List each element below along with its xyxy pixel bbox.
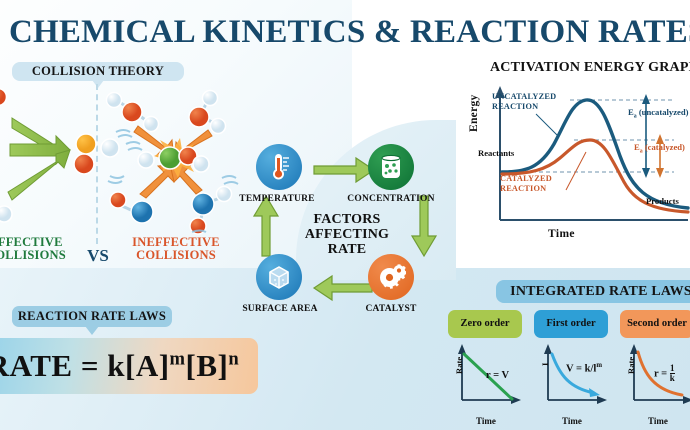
factor-node-catalyst[interactable] <box>368 254 414 300</box>
catalyzed-reaction-label: CATALYZED REACTION <box>500 174 552 193</box>
formula-sup-m: m <box>170 349 186 370</box>
ea-uncat-text: (uncatalyzed) <box>639 107 689 117</box>
zero-order-equation: r = V <box>486 370 509 381</box>
gears-icon <box>376 263 406 291</box>
reaction-rate-laws-heading: REACTION RATE LAWS <box>12 306 172 327</box>
factor-node-surface-area[interactable] <box>256 254 302 300</box>
integrated-rate-laws-heading: INTEGRATED RATE LAWS <box>496 280 690 303</box>
zero-order-title: Zero order <box>448 310 522 338</box>
rate-law-formula: RATE = k[A]m[B]n <box>0 348 239 384</box>
infographic-canvas: CHEMICAL KINETICS & REACTION RATES COLLI… <box>0 0 690 430</box>
ea-sub-1: a <box>634 114 637 120</box>
integrated-card-second-order[interactable]: Second order Rate Time r = 1k <box>620 310 690 338</box>
second-order-ylabel: Rate <box>626 357 636 374</box>
effective-line2: COLLISIONS <box>0 248 66 262</box>
page-title: CHEMICAL KINETICS & REACTION RATES <box>9 14 689 51</box>
factor-label-surface-area: SURFACE AREA <box>238 304 322 314</box>
first-order-plot <box>534 342 608 414</box>
integrated-rate-laws-group: Zero order Rate Time r = V First order <box>448 310 690 430</box>
rate-law-formula-box: RATE = k[A]m[B]n <box>0 338 258 394</box>
activation-energy-chart: Energy Time UNCATALYZED REACTION CATALYZ… <box>474 78 690 248</box>
first-order-xlabel: Time <box>562 416 582 426</box>
ea-cat-text: (catalyzed) <box>645 142 685 152</box>
catalyzed-line1: CATALYZED <box>500 174 552 183</box>
versus-label: VS <box>80 246 116 266</box>
zero-order-xlabel: Time <box>476 416 496 426</box>
first-order-ylabel: I <box>540 363 550 366</box>
uncatalyzed-reaction-label: UNCATALYZED REACTION <box>492 92 556 111</box>
factors-affecting-rate-cycle: TEMPERATURE CONCENTRATION CATALYST SURFA… <box>232 144 462 334</box>
cycle-center-label: FACTORS AFFECTING RATE <box>280 212 414 257</box>
catalyzed-line2: REACTION <box>500 184 546 193</box>
reactants-label: Reactants <box>478 148 514 158</box>
uncatalyzed-line1: UNCATALYZED <box>492 92 556 101</box>
formula-lhs: RATE = k[A] <box>0 348 170 383</box>
first-order-title: First order <box>534 310 608 338</box>
second-order-line1: Second <box>627 318 659 330</box>
activation-x-axis-label: Time <box>548 228 575 240</box>
second-order-title: Second order <box>620 310 690 338</box>
second-order-xlabel: Time <box>648 416 668 426</box>
ineffective-line1: INEFFECTIVE <box>132 235 220 249</box>
cube-icon <box>265 263 293 291</box>
integrated-card-zero-order[interactable]: Zero order Rate Time r = V <box>448 310 522 338</box>
factor-label-temperature: TEMPERATURE <box>230 194 324 204</box>
zero-order-line1: Zero <box>460 318 481 330</box>
thermometer-icon <box>266 152 292 182</box>
collision-theory-heading: COLLISION THEORY <box>12 62 184 81</box>
formula-mid: [B] <box>186 348 229 383</box>
second-order-fraction: 1k <box>670 364 675 384</box>
formula-sup-n: n <box>228 349 239 370</box>
effective-line1: EFFECTIVE <box>0 235 63 249</box>
first-order-equation: V = k/lm <box>566 362 602 375</box>
center-line1: FACTORS <box>313 212 380 227</box>
activation-y-axis-label: Energy <box>468 94 480 132</box>
activation-graph-heading: ACTIVATION ENERGY GRAPH <box>490 60 690 76</box>
center-line2: AFFECTING <box>305 227 389 242</box>
products-label: Products <box>646 196 679 206</box>
ineffective-line2: COLLISIONS <box>136 248 216 262</box>
first-order-line1: First <box>546 318 568 330</box>
factor-node-concentration[interactable] <box>368 144 414 190</box>
integrated-card-first-order[interactable]: First order I Time V = k/lm <box>534 310 608 338</box>
factor-node-temperature[interactable] <box>256 144 302 190</box>
second-order-equation: r = 1k <box>654 364 675 384</box>
center-line3: RATE <box>328 242 367 257</box>
zero-order-plot <box>448 342 522 414</box>
ea-catalyzed-label: Ea (catalyzed) <box>634 142 685 155</box>
first-order-exp: m <box>596 362 602 369</box>
first-order-line2: order <box>571 318 596 330</box>
factor-label-concentration: CONCENTRATION <box>342 194 440 204</box>
uncatalyzed-line2: REACTION <box>492 102 538 111</box>
ineffective-collision-diagram <box>104 86 244 238</box>
second-order-line2: order <box>662 318 687 330</box>
zero-order-line2: order <box>484 318 509 330</box>
ea-uncatalyzed-label: Ea (uncatalyzed) <box>628 107 688 120</box>
zero-order-ylabel: Rate <box>454 357 464 374</box>
factor-label-catalyst: CATALYST <box>352 304 430 314</box>
beaker-icon <box>377 153 405 181</box>
ea-sub-2: a <box>640 149 643 155</box>
ineffective-collisions-label: INEFFECTIVE COLLISIONS <box>116 236 236 262</box>
